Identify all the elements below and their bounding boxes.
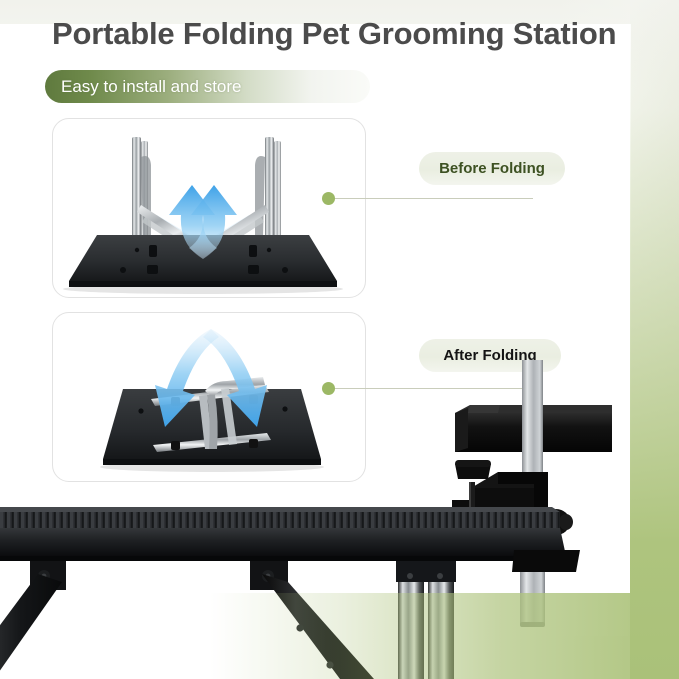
connector-dot-before	[322, 192, 335, 205]
tag-before-label: Before Folding	[439, 160, 545, 177]
subtitle-pill-label: Easy to install and store	[61, 77, 241, 97]
tag-before-folding: Before Folding	[419, 152, 565, 185]
green-accent-bottom	[210, 593, 679, 679]
green-accent-strip	[630, 0, 679, 679]
connector-line-before	[334, 198, 533, 199]
product-marketing-image: Portable Folding Pet Grooming Station Ea…	[0, 0, 679, 679]
page-title: Portable Folding Pet Grooming Station	[52, 16, 616, 52]
before-folding-illustration	[53, 119, 365, 297]
panel-before-folding	[52, 118, 366, 298]
subtitle-pill: Easy to install and store	[45, 70, 370, 103]
ribbed-tabletop	[0, 507, 580, 572]
